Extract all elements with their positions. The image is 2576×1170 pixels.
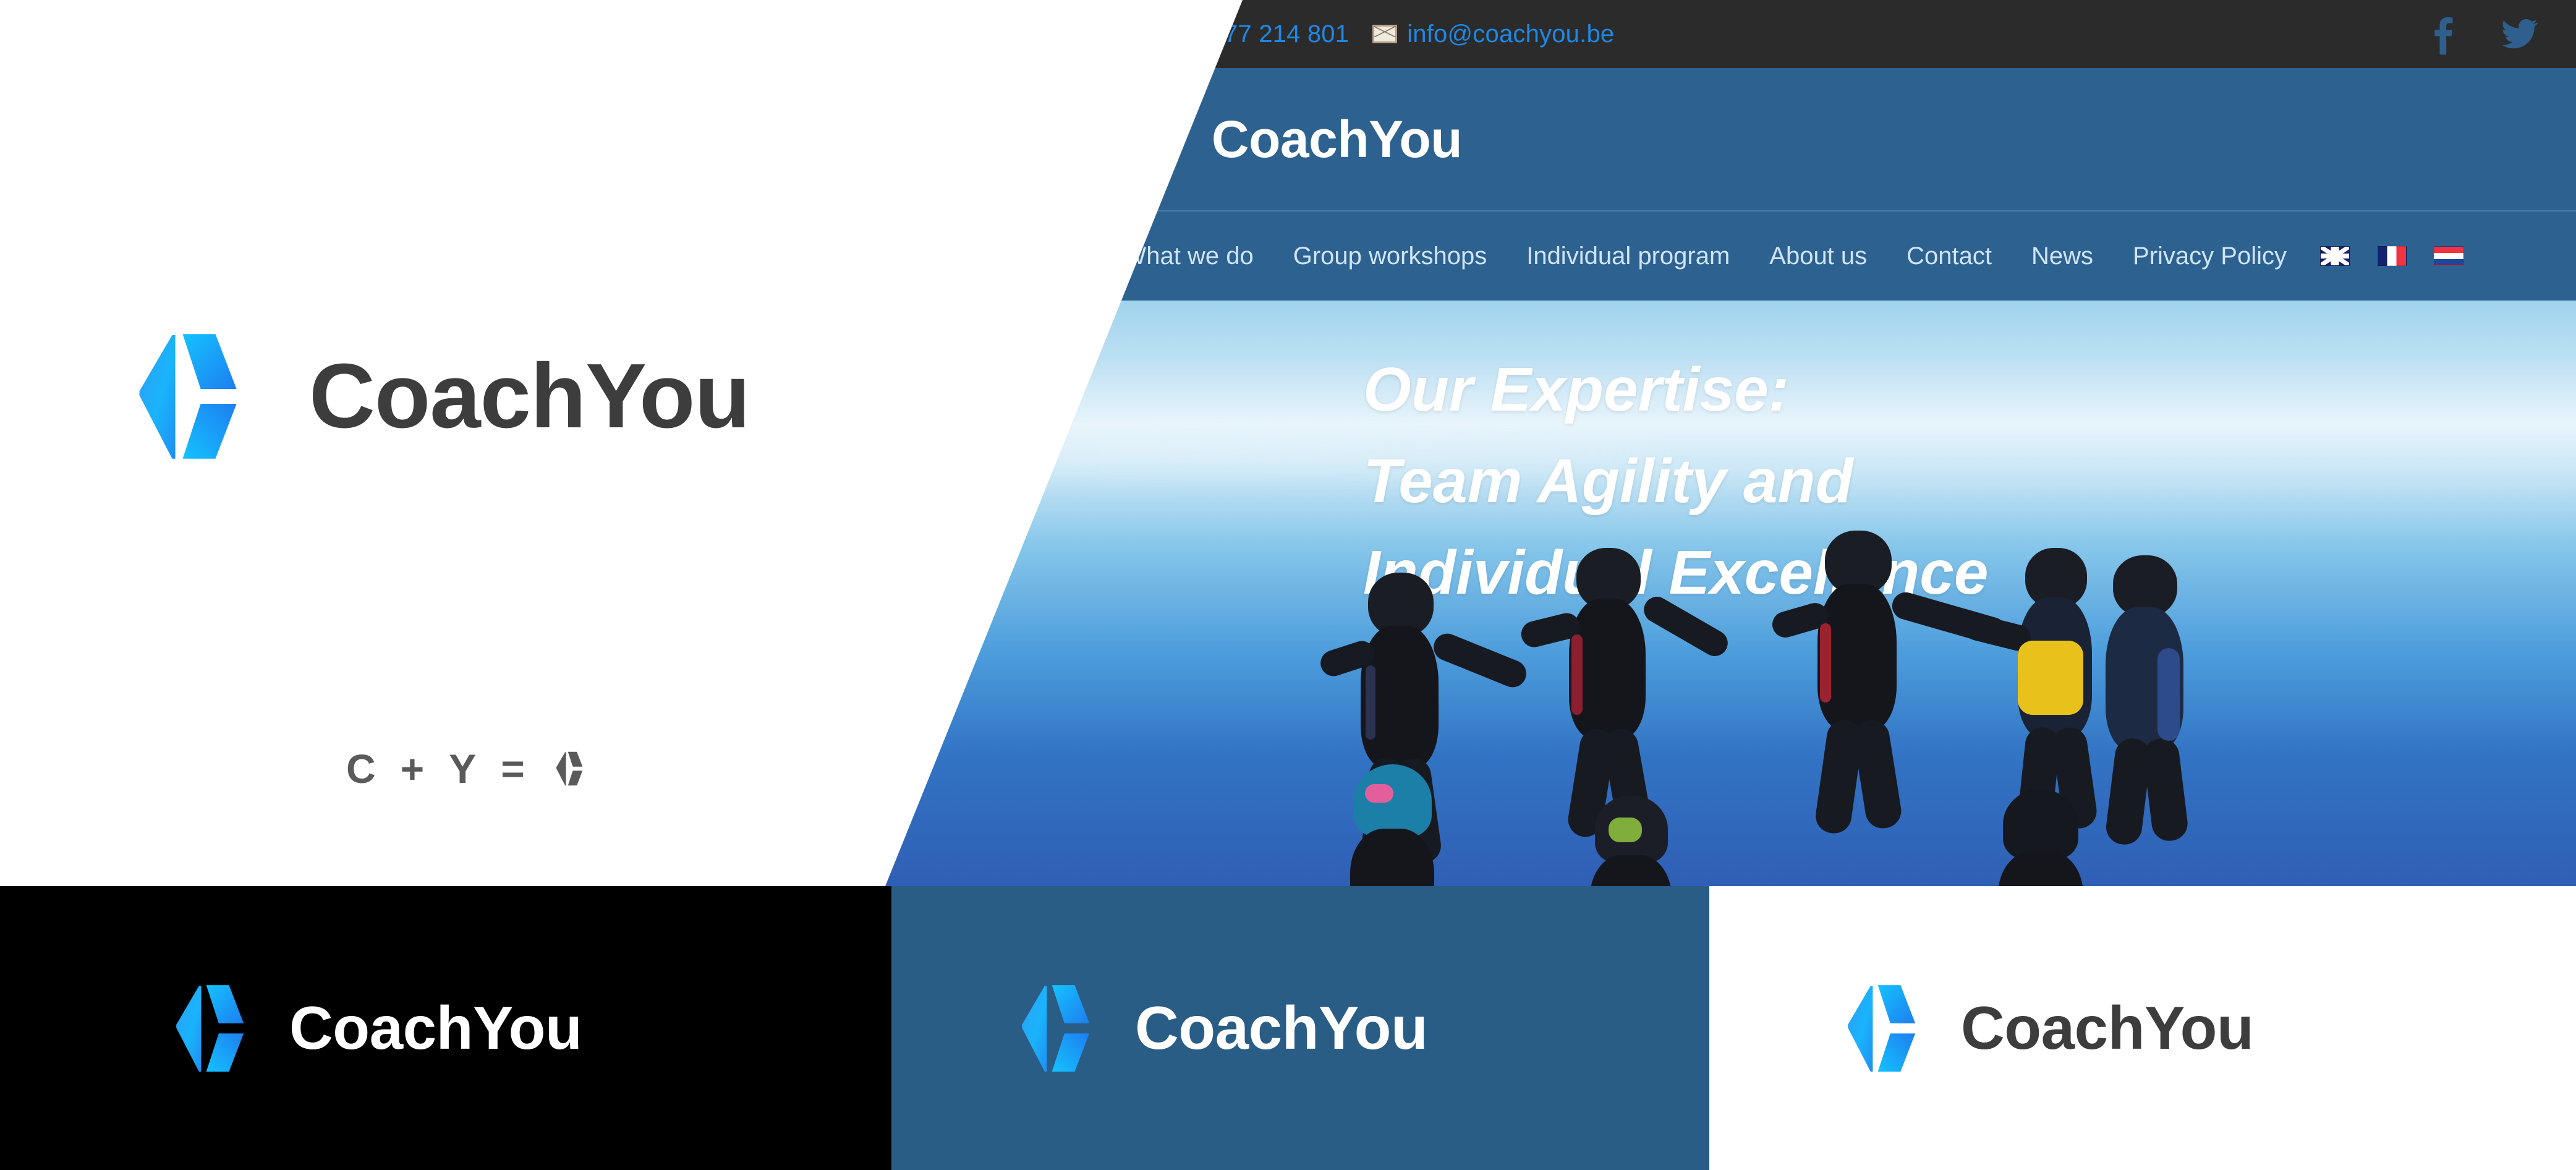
- email-address: info@coachyou.be: [1407, 20, 1614, 48]
- brand-wordmark: CoachYou: [309, 344, 750, 449]
- logo-equation: C + Y =: [346, 745, 585, 792]
- facebook-icon[interactable]: [2431, 12, 2456, 56]
- hero-line-2: Team Agility and: [1363, 435, 1989, 527]
- panel-wordmark: CoachYou: [289, 993, 582, 1063]
- nav-item-news[interactable]: News: [2012, 242, 2113, 270]
- site-title: CoachYou: [1212, 109, 1462, 169]
- panel-wordmark: CoachYou: [1135, 993, 1427, 1063]
- flag-fr-icon[interactable]: [2377, 246, 2407, 266]
- phone-contact[interactable]: 77 214 801: [1224, 20, 1349, 48]
- equation-plus: +: [401, 745, 425, 792]
- logo-panel-light: CoachYou: [1709, 886, 2576, 1170]
- envelope-icon: [1372, 25, 1397, 43]
- equation-equals: =: [501, 745, 525, 792]
- nav-item-individual-program[interactable]: Individual program: [1507, 242, 1749, 270]
- nav-item-privacy-policy[interactable]: Privacy Policy: [2113, 242, 2306, 270]
- coachyou-cube-logo: [172, 981, 251, 1076]
- coachyou-mark-gray: [555, 750, 585, 787]
- coachyou-cube-logo: [1843, 981, 1923, 1076]
- hero-copy: Our Expertise: Team Agility and Individu…: [1363, 344, 1989, 618]
- nav-item-about-us[interactable]: About us: [1749, 242, 1887, 270]
- phone-number: 77 214 801: [1224, 20, 1349, 48]
- email-contact[interactable]: info@coachyou.be: [1372, 20, 1614, 48]
- logo-panel-dark: CoachYou: [0, 886, 891, 1170]
- flag-uk-icon[interactable]: [2320, 246, 2350, 266]
- flag-nl-icon[interactable]: [2434, 246, 2463, 266]
- brand-sheet: CoachYou C + Y = 77 214 801 info@coachyo…: [0, 0, 2576, 1170]
- equation-y: Y: [449, 745, 476, 792]
- twitter-icon[interactable]: [2501, 15, 2539, 53]
- site-header: CoachYou: [0, 68, 2576, 210]
- nav-item-group-workshops[interactable]: Group workshops: [1273, 242, 1507, 270]
- coachyou-cube-logo: [133, 328, 247, 465]
- hero-line-1: Our Expertise:: [1363, 344, 1989, 435]
- logo-panel-blue: CoachYou: [891, 886, 1709, 1170]
- site-navigation: What we do Group workshops Individual pr…: [0, 211, 2576, 301]
- nav-item-contact[interactable]: Contact: [1887, 242, 2012, 270]
- social-links: [2431, 12, 2539, 56]
- coachyou-cube-logo: [1018, 981, 1097, 1076]
- site-utility-bar: 77 214 801 info@coachyou.be: [0, 0, 2576, 68]
- panel-wordmark: CoachYou: [1961, 993, 2253, 1063]
- equation-c: C: [346, 745, 376, 792]
- logo-variant-panels: CoachYou CoachYou CoachYou: [0, 886, 2576, 1170]
- primary-logo-lockup: CoachYou: [133, 328, 750, 465]
- coachyou-cube-logo[interactable]: [1114, 98, 1182, 180]
- nav-item-what-we-do[interactable]: What we do: [1103, 242, 1273, 270]
- top-section: CoachYou C + Y = 77 214 801 info@coachyo…: [0, 0, 2576, 886]
